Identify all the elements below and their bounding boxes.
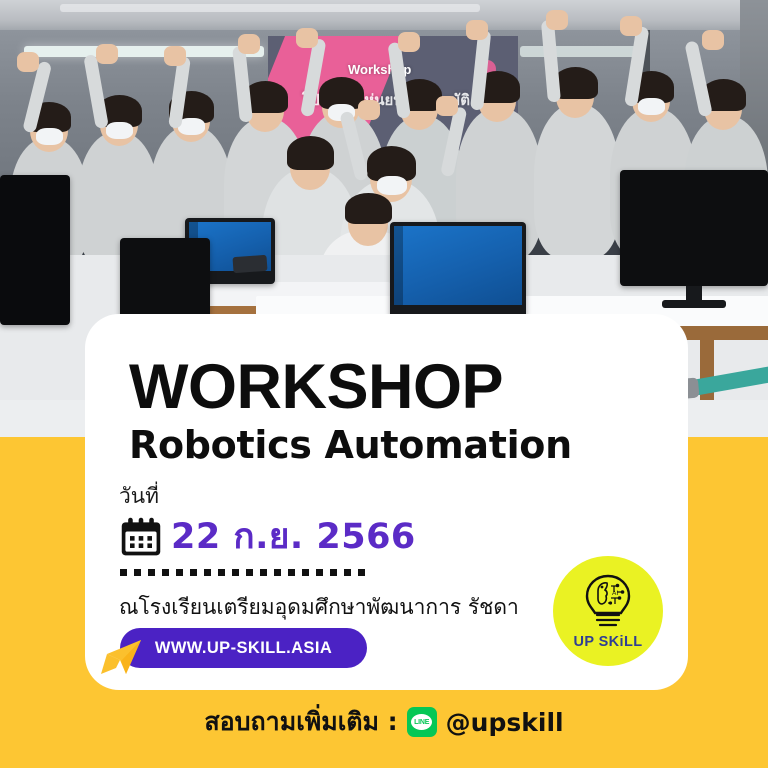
cursor-arrow-icon xyxy=(97,634,151,690)
monitor-bezel xyxy=(620,170,768,286)
page-subtitle: Robotics Automation xyxy=(129,426,572,464)
logo-text: UP SKiLL xyxy=(574,634,643,650)
monitor-base xyxy=(662,300,726,308)
raised-fist xyxy=(296,28,318,48)
info-card: WORKSHOP Robotics Automation วันที่ 22 ก… xyxy=(85,314,688,690)
ceiling xyxy=(0,0,768,34)
dotted-divider xyxy=(120,569,369,576)
line-handle: @upskill xyxy=(446,708,564,737)
ceiling-light-left xyxy=(24,46,264,57)
date-value: 22 ก.ย. 2566 xyxy=(171,509,416,564)
monitor-taskbar xyxy=(394,226,403,305)
person xyxy=(534,104,620,258)
svg-text:AI: AI xyxy=(612,590,618,597)
raised-fist xyxy=(620,16,642,36)
smartphone-on-desk xyxy=(232,255,267,273)
raised-fist xyxy=(546,10,568,30)
person-hair xyxy=(287,136,334,170)
line-app-icon[interactable]: LINE xyxy=(407,707,437,737)
upskill-logo: AI UP SKiLL xyxy=(553,556,663,666)
raised-fist xyxy=(164,46,186,66)
monitor-screen xyxy=(394,226,522,305)
raised-fist xyxy=(466,20,488,40)
face-mask xyxy=(377,176,407,195)
line-bubble: LINE xyxy=(411,714,432,730)
ceiling-light-right xyxy=(520,46,640,57)
monitor-bezel xyxy=(0,175,70,325)
page-title: WORKSHOP xyxy=(129,356,503,419)
calendar-icon xyxy=(119,515,163,559)
raised-fist xyxy=(702,30,724,50)
raised-fist xyxy=(17,52,39,72)
face-mask xyxy=(638,98,665,115)
venue-text: ณโรงเรียนเตรียมอุดมศึกษาพัฒนาการ รัชดา xyxy=(119,591,519,624)
computer-monitor xyxy=(390,222,526,318)
website-url-button[interactable]: WWW.UP-SKILL.ASIA xyxy=(120,628,367,668)
poster-root: Workshop โปรแกรมหุ่นยนต์อัตโนมัติ xyxy=(0,0,768,768)
raised-fist xyxy=(238,34,260,54)
face-mask xyxy=(36,128,63,145)
footer-contact-bar: สอบถามเพิ่มเติม : LINE @upskill xyxy=(0,698,768,746)
person-hair xyxy=(345,193,392,224)
raised-arm xyxy=(83,54,109,129)
computer-monitor xyxy=(0,175,70,325)
lightbulb-ai-icon: AI xyxy=(581,573,635,633)
raised-fist xyxy=(358,100,380,120)
contact-label: สอบถามเพิ่มเติม : xyxy=(204,702,397,742)
computer-monitor xyxy=(620,170,768,286)
raised-fist xyxy=(96,44,118,64)
raised-fist xyxy=(398,32,420,52)
raised-fist xyxy=(436,96,458,116)
face-mask xyxy=(106,122,133,139)
date-row: 22 ก.ย. 2566 xyxy=(119,509,416,564)
